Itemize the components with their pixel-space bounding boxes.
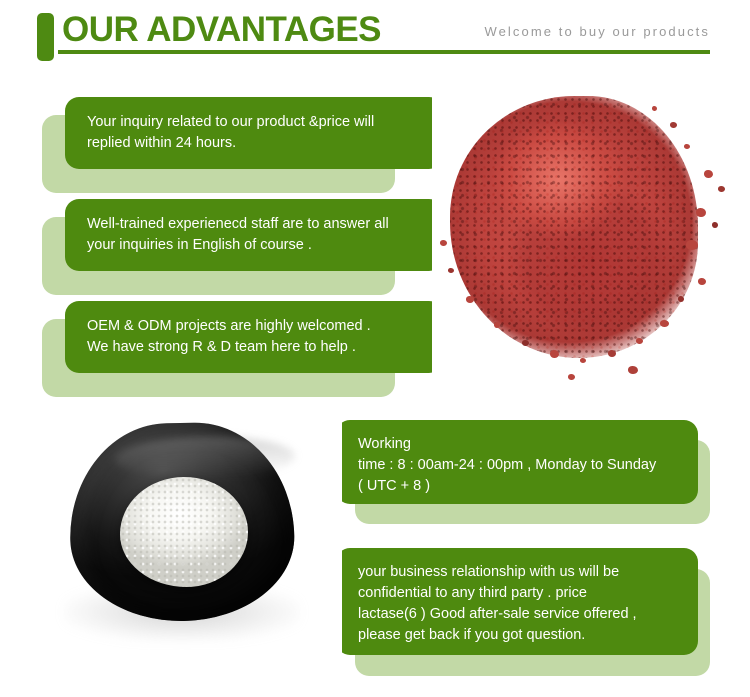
card-panel: Your inquiry related to our product &pri… [65,97,443,169]
powder-speck [660,320,669,327]
advantage-card-confidentiality: your business relationship with us will … [336,548,726,676]
powder-speck [704,170,713,178]
advantage-text: OEM & ODM projects are highly welcomed .… [87,316,429,358]
powder-speck [494,322,500,328]
advantage-card-trained-staff: Well-trained experienecd staff are to an… [42,199,442,295]
card-panel: your business relationship with us will … [336,548,698,655]
red-powder-image [432,82,742,407]
powder-speck [448,268,454,273]
powder-speck [698,278,706,285]
powder-speck [696,208,706,217]
powder-speck [476,178,482,184]
powder-speck [670,122,677,128]
powder-speck [652,106,657,111]
advantage-text: Your inquiry related to our product &pri… [87,112,429,154]
powder-speck [686,240,698,250]
powder-speck [718,186,725,192]
advantage-text: your business relationship with us will … [358,562,684,646]
powder-speck [636,338,643,344]
advantage-card-working-time: Working time : 8 : 00am-24 : 00pm , Mond… [336,420,726,524]
page-title: OUR ADVANTAGES [62,8,381,52]
white-powder-grain-texture [120,477,248,587]
white-powder-mound [120,477,248,587]
powder-speck [522,340,529,346]
bowl-rim-highlight [115,435,296,480]
powder-speck [466,296,474,303]
header-tagline: Welcome to buy our products [484,24,710,39]
powder-speck [712,222,718,228]
advantage-card-inquiry-response: Your inquiry related to our product &pri… [42,97,442,193]
card-panel: Working time : 8 : 00am-24 : 00pm , Mond… [336,420,698,504]
powder-speck [628,366,638,374]
powder-speck [454,206,459,211]
card-panel: OEM & ODM projects are highly welcomed .… [65,301,443,373]
advantage-text: Working time : 8 : 00am-24 : 00pm , Mond… [358,434,684,497]
powder-speck [568,374,575,380]
advantage-card-oem-odm: OEM & ODM projects are highly welcomed .… [42,301,442,397]
powder-speck [608,350,616,357]
header-accent-bar [37,13,54,61]
advantages-banner: OUR ADVANTAGES Welcome to buy our produc… [0,0,750,697]
header-divider-rule [58,50,710,54]
powder-speck [580,358,586,363]
powder-speck [440,240,447,246]
powder-speck [550,350,559,358]
red-powder-pile [450,96,698,358]
powder-speck [678,296,684,302]
red-powder-grain-texture [450,96,698,358]
white-powder-bowl-image [42,415,342,680]
card-panel: Well-trained experienecd staff are to an… [65,199,443,271]
powder-speck [684,144,690,149]
advantage-text: Well-trained experienecd staff are to an… [87,214,429,256]
